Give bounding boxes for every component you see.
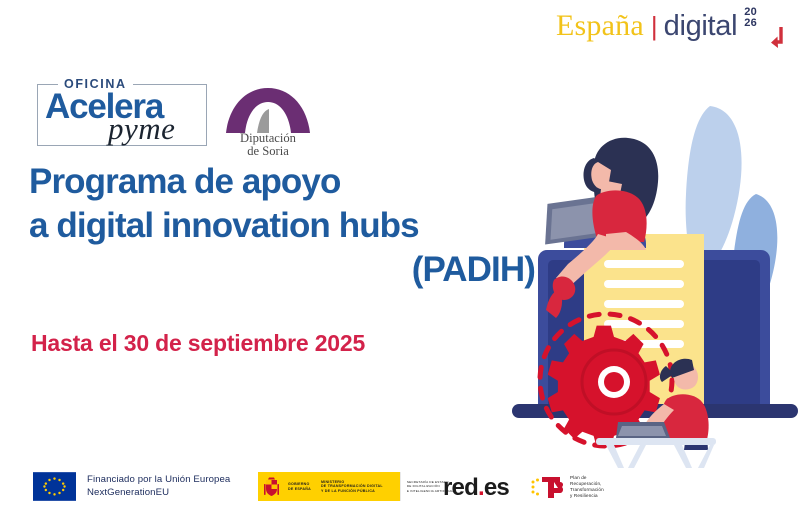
banner-canvas: España | digital 20 26 OFICINA Acelera p… [0, 0, 800, 510]
headline-line-2: a digital innovation hubs [29, 206, 419, 245]
deadline-text: Hasta el 30 de septiembre 2025 [31, 330, 365, 357]
footer-logos: Financiado por la Unión Europea NextGene… [0, 462, 800, 510]
gobierno-de-espana-logo: GOBIERNO DE ESPAÑA MINISTERIO DE TRANSFO… [258, 472, 400, 501]
hero-illustration [498, 48, 800, 468]
headline-line-1: Programa de apoyo [29, 162, 340, 201]
eu-funding-text: Financiado por la Unión Europea NextGene… [87, 474, 230, 499]
eu-funding-line1: Financiado por la Unión Europea [87, 474, 230, 486]
page-title: Programa de apoyo a digital innovation h… [29, 160, 549, 292]
diputacion-soria-arch-icon [226, 88, 310, 134]
acelera-pyme-pyme-word: pyme [108, 113, 175, 145]
espana-digital-logo: España | digital 20 26 [556, 6, 757, 52]
ministerio-text: MINISTERIO DE TRANSFORMACIÓN DIGITAL Y D… [321, 480, 383, 494]
eu-funding-line2: NextGenerationEU [87, 487, 230, 499]
espana-digital-year-bottom: 26 [744, 18, 757, 29]
eu-funding-block: Financiado por la Unión Europea NextGene… [33, 472, 230, 501]
espana-digital-digital: digital [664, 6, 738, 47]
headline-line-3: (PADIH) [29, 248, 549, 292]
government-logo-block: GOBIERNO DE ESPAÑA MINISTERIO DE TRANSFO… [258, 472, 459, 501]
european-union-flag-icon [33, 472, 76, 501]
diputacion-soria-logo: Diputación de Soria [218, 88, 318, 152]
redes-prefix: red [443, 474, 478, 501]
redes-suffix: es [484, 474, 509, 501]
gobierno-de-espana-text: GOBIERNO DE ESPAÑA [288, 482, 311, 491]
espana-digital-espana: España [556, 6, 644, 46]
espana-digital-year: 20 26 [744, 7, 757, 29]
plan-recuperacion-tr-icon [530, 473, 564, 501]
plan-recuperacion-block: Plan de Recuperación, Transformación y R… [530, 472, 604, 502]
espana-digital-separator: | [651, 6, 658, 47]
redes-logo: red.es [443, 475, 509, 501]
diputacion-soria-text: Diputación de Soria [218, 132, 318, 159]
diputacion-soria-line1: Diputación [218, 132, 318, 145]
spain-coat-of-arms-icon [263, 476, 280, 498]
plan-recuperacion-text: Plan de Recuperación, Transformación y R… [570, 475, 604, 499]
diputacion-soria-line2: de Soria [218, 145, 318, 158]
